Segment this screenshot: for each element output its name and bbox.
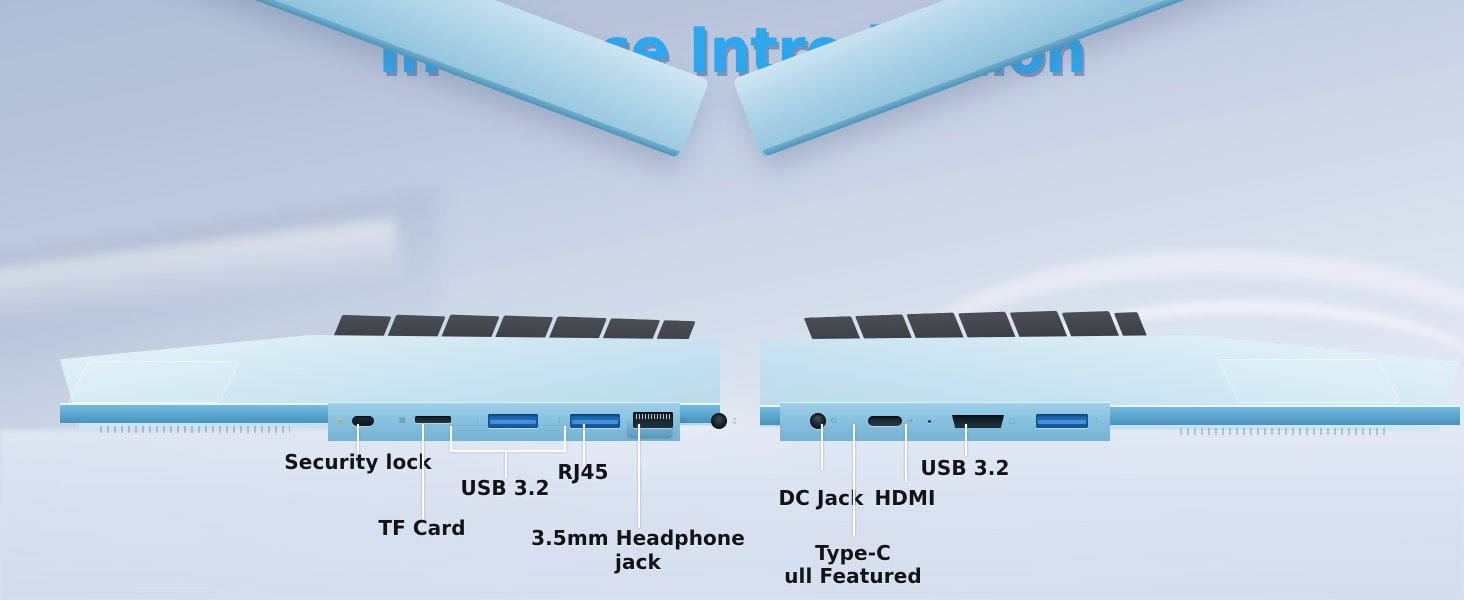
laptop-right-port-strip: ⏻ → ▢ ⋮	[780, 402, 1110, 441]
laptop-right-trackpad	[1217, 359, 1400, 403]
port-hdmi[interactable]	[952, 415, 1004, 428]
usb-icon: ⋮	[474, 418, 482, 425]
usb-icon: ⋮	[556, 418, 564, 425]
leader-tf-card	[422, 424, 424, 522]
status-led	[928, 420, 931, 423]
bracket-usb-left	[450, 426, 566, 452]
callout-headphone-jack-line2: jack	[498, 552, 778, 574]
leader-headphone-jack	[638, 424, 640, 528]
callout-hdmi: HDMI	[840, 488, 970, 510]
sd-card-icon: ▦	[399, 417, 406, 424]
laptop-left-trackpad	[68, 361, 240, 403]
port-tf-card[interactable]	[415, 416, 451, 423]
laptop-left-vents	[100, 426, 290, 433]
rj45-pins	[636, 414, 670, 419]
callout-usb-right: USB 3.2	[875, 458, 1055, 480]
callout-type-c-line2: ull Featured	[763, 566, 943, 588]
ethernet-icon: ☷	[680, 418, 687, 425]
page-title: Interface Introduction	[51, 14, 1413, 87]
port-security-lock[interactable]	[352, 416, 374, 426]
hdmi-icon: ▢	[1009, 418, 1016, 425]
leader-dc-jack	[821, 424, 823, 470]
interface-introduction-banner: Interface Introduction	[0, 0, 1464, 600]
callout-type-c-line1: Type-C	[763, 543, 943, 565]
laptop-left: 🔒 ▦ ⋮ ⋮ ☷ ♫	[60, 80, 760, 460]
usb-icon: ⋮	[1093, 418, 1101, 425]
callout-rj45: RJ45	[493, 462, 673, 484]
callout-security-lock: Security lock	[218, 452, 498, 474]
usb-c-icon: →	[907, 418, 913, 425]
port-dc-jack[interactable]	[810, 413, 826, 429]
port-usb-a-2[interactable]	[570, 414, 620, 428]
callout-headphone-jack-line1: 3.5mm Headphone	[498, 528, 778, 550]
lock-icon: 🔒	[336, 417, 345, 424]
power-icon: ⏻	[831, 418, 837, 425]
port-usb-a-3[interactable]	[1036, 414, 1088, 428]
laptop-right-vents	[1180, 428, 1390, 435]
leader-usb-right	[965, 424, 967, 456]
port-type-c[interactable]	[868, 416, 902, 426]
leader-type-c	[853, 424, 855, 536]
laptop-right: ⏻ → ▢ ⋮	[700, 80, 1460, 460]
